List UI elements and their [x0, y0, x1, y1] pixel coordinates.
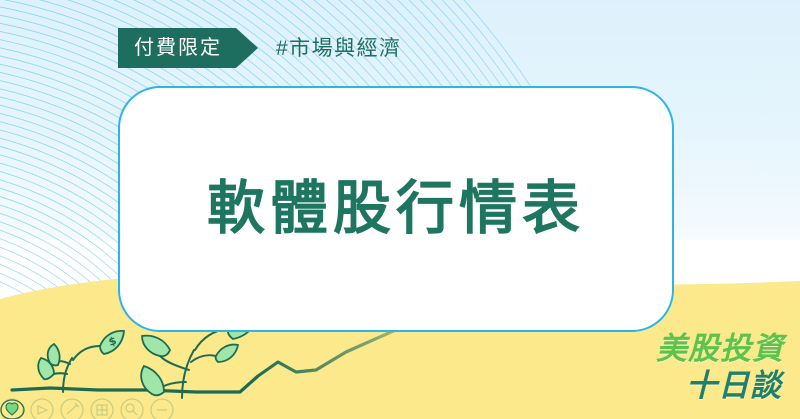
main-title-card: 軟體股行情表	[118, 86, 674, 332]
shield-icon	[1, 399, 23, 419]
brand-logo-line-2: 十日談	[622, 370, 782, 401]
search-icon	[121, 399, 143, 419]
pen-icon	[61, 399, 83, 419]
page-title: 軟體股行情表	[207, 176, 585, 243]
category-hashtag[interactable]: #市場與經濟	[276, 38, 402, 59]
play-icon	[31, 399, 53, 419]
paid-badge-shape[interactable]: 付費限定	[118, 28, 258, 68]
paid-badge-label: 付費限定	[134, 38, 222, 58]
paid-badge[interactable]: 付費限定	[118, 28, 258, 68]
cover-image: $ $	[0, 0, 800, 419]
minus-icon	[151, 399, 173, 419]
mini-icon-strip	[0, 396, 200, 419]
grid-icon	[91, 399, 113, 419]
tag-row: 付費限定 #市場與經濟	[118, 28, 402, 68]
brand-logo: 美股投資 十日談	[622, 333, 786, 407]
brand-logo-line-1: 美股投資	[622, 333, 784, 364]
